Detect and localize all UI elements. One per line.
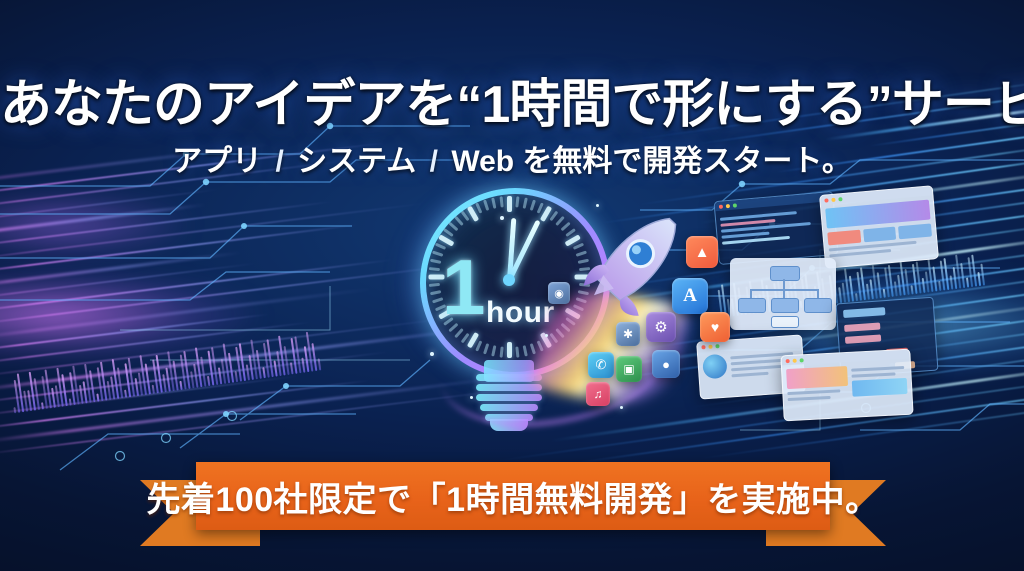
flow-edge xyxy=(750,289,752,298)
page-subtitle: アプリ / システム / Web を無料で開発スタート。 xyxy=(0,136,1024,180)
globe-icon xyxy=(702,354,728,380)
subtitle-part-app: アプリ xyxy=(172,145,262,178)
promo-ribbon: 先着100社限定で「1時間無料開発」を実施中。 xyxy=(140,462,886,552)
window-content xyxy=(715,201,836,252)
window-content xyxy=(782,359,912,409)
window-content xyxy=(821,195,938,265)
clock-pivot xyxy=(503,274,515,286)
flow-node-c xyxy=(804,298,832,313)
flow-node-b xyxy=(771,298,799,313)
subtitle-part-web: Web を無料で開発スタート。 xyxy=(451,145,852,178)
flow-edge xyxy=(783,279,785,289)
flow-edge xyxy=(817,289,819,298)
subtitle-separator: / xyxy=(430,145,438,178)
flow-edge xyxy=(783,289,785,298)
subtitle-separator: / xyxy=(275,145,283,178)
headline-text: あなたのアイデアを“1時間で形にする”サービス xyxy=(0,76,1024,134)
ribbon-body: 先着100社限定で「1時間無料開発」を実施中。 xyxy=(196,462,830,530)
flow-node-a xyxy=(738,298,766,313)
settings-gear-icon: ⚙ xyxy=(646,312,676,342)
app-store-icon: A xyxy=(672,278,708,314)
website-window-mockup xyxy=(819,185,939,269)
photos-app-icon: ✱ xyxy=(616,322,640,346)
flow-node-d xyxy=(771,316,799,328)
music-note-icon: ♫ xyxy=(586,382,610,406)
rocket-icon xyxy=(573,210,687,324)
page-title: あなたのアイデアを“1時間で形にする”サービス** xyxy=(0,62,1024,137)
globe-app-icon: ● xyxy=(652,350,680,378)
purple-glow-upper xyxy=(0,180,240,270)
sparkle xyxy=(596,204,599,207)
media-heart-icon: ♥ xyxy=(700,312,730,342)
folder-app-icon: ▣ xyxy=(616,356,642,382)
ribbon-text: 先着100社限定で「1時間無料開発」を実施中。 xyxy=(146,472,879,521)
sparkle xyxy=(500,216,504,220)
flowchart-diagram xyxy=(730,258,836,330)
sparkle xyxy=(430,352,434,356)
subtitle-part-system: システム xyxy=(297,145,416,178)
camera-app-icon: ◉ xyxy=(548,282,570,304)
sparkle xyxy=(470,396,473,399)
sparkle xyxy=(620,406,623,409)
purple-glow xyxy=(0,255,320,375)
rocket-app-icon: ▲ xyxy=(686,236,718,268)
sparkle xyxy=(545,334,548,337)
dashboard-window-mockup xyxy=(780,349,913,422)
flow-node-root xyxy=(770,266,800,281)
hero-banner: 1 hour ◉ ▲ A ⚙ ♥ ✱ ✆ ▣ ♫ ● xyxy=(0,0,1024,571)
phone-app-icon: ✆ xyxy=(588,352,614,378)
equalizer-bars-left xyxy=(9,331,322,414)
